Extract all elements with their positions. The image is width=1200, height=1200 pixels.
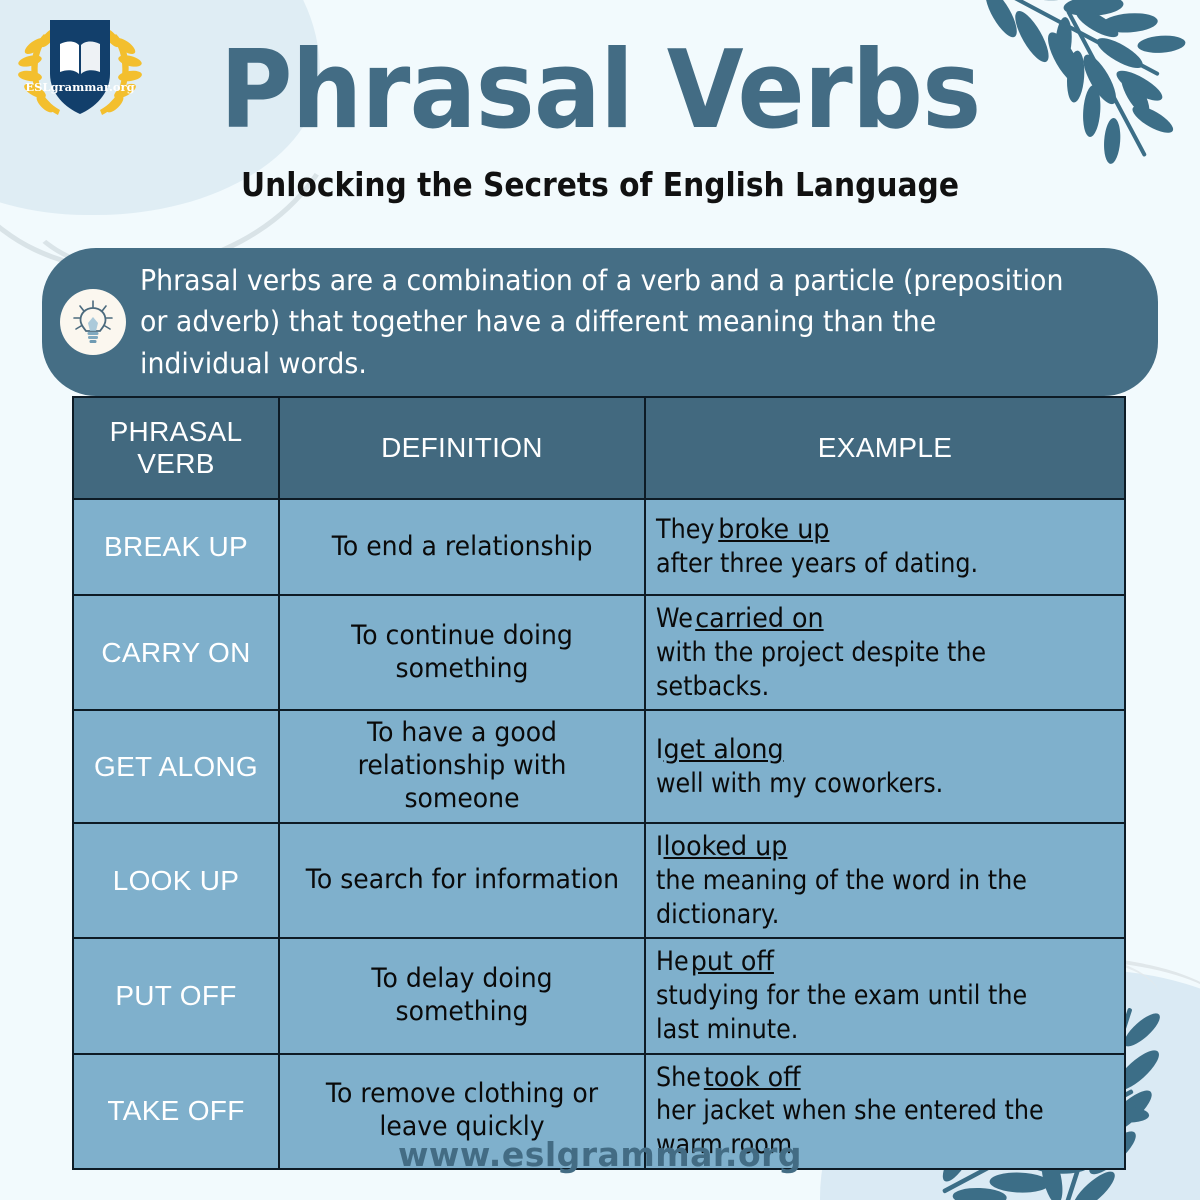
- cell-phrasal-verb: LOOK UP: [73, 823, 279, 938]
- cell-example: We carried on with the project despite t…: [645, 595, 1125, 710]
- cell-phrasal-verb: CARRY ON: [73, 595, 279, 710]
- example-text-before: She: [656, 1061, 701, 1095]
- example-phrasal-verb-highlight: get along: [663, 734, 783, 765]
- column-header-example: EXAMPLE: [645, 397, 1125, 499]
- definition-banner: Phrasal verbs are a combination of a ver…: [42, 248, 1158, 396]
- table-row: LOOK UPTo search for informationI looked…: [73, 823, 1125, 938]
- cell-phrasal-verb: GET ALONG: [73, 710, 279, 823]
- example-text-after: with the project despite the setbacks.: [656, 636, 1061, 704]
- footer-website[interactable]: www.eslgrammar.org: [0, 1135, 1200, 1174]
- cell-example: I get along well with my coworkers.: [645, 710, 1125, 823]
- column-header-line-1: PHRASAL: [84, 416, 268, 448]
- example-phrasal-verb-highlight: put off: [691, 946, 774, 977]
- table-body: BREAK UPTo end a relationshipThey broke …: [73, 499, 1125, 1169]
- lightbulb-icon: [71, 299, 115, 345]
- page-header: Phrasal Verbs Unlocking the Secrets of E…: [0, 40, 1200, 204]
- column-header-phrasal-verb: PHRASAL VERB: [73, 397, 279, 499]
- cell-definition: To delay doing something: [279, 938, 645, 1053]
- cell-phrasal-verb: BREAK UP: [73, 499, 279, 595]
- example-text-before: He: [656, 945, 689, 979]
- example-text-after: the meaning of the word in the dictionar…: [656, 864, 1061, 932]
- example-phrasal-verb-highlight: took off: [704, 1062, 801, 1093]
- cell-definition: To have a good relationship with someone: [279, 710, 645, 823]
- example-text-after: after three years of dating.: [656, 547, 978, 581]
- example-text-before: We: [656, 602, 693, 636]
- cell-example: They broke up after three years of datin…: [645, 499, 1125, 595]
- cell-phrasal-verb: PUT OFF: [73, 938, 279, 1053]
- cell-example: He put off studying for the exam until t…: [645, 938, 1125, 1053]
- lightbulb-badge: [60, 289, 126, 355]
- table-row: PUT OFFTo delay doing somethingHe put of…: [73, 938, 1125, 1053]
- example-text-before: I: [656, 733, 663, 767]
- page-subtitle: Unlocking the Secrets of English Languag…: [60, 165, 1140, 204]
- cell-definition: To search for information: [279, 823, 645, 938]
- table-row: CARRY ONTo continue doing somethingWe ca…: [73, 595, 1125, 710]
- table-row: BREAK UPTo end a relationshipThey broke …: [73, 499, 1125, 595]
- example-phrasal-verb-highlight: broke up: [718, 514, 829, 545]
- phrasal-verbs-table-wrapper: PHRASAL VERB DEFINITION EXAMPLE BREAK UP…: [72, 396, 1126, 1170]
- column-header-definition: DEFINITION: [279, 397, 645, 499]
- example-text-after: studying for the exam until the last min…: [656, 979, 1061, 1047]
- example-phrasal-verb-highlight: carried on: [695, 603, 823, 634]
- column-header-line-2: VERB: [84, 448, 268, 480]
- cell-definition: To end a relationship: [279, 499, 645, 595]
- table-header-row: PHRASAL VERB DEFINITION EXAMPLE: [73, 397, 1125, 499]
- cell-definition: To continue doing something: [279, 595, 645, 710]
- infographic-page: Eslgrammar.org: [0, 0, 1200, 1200]
- definition-banner-text: Phrasal verbs are a combination of a ver…: [140, 260, 1072, 384]
- table-header: PHRASAL VERB DEFINITION EXAMPLE: [73, 397, 1125, 499]
- example-text-before: They: [656, 513, 714, 547]
- example-text-after: well with my coworkers.: [656, 767, 943, 801]
- phrasal-verbs-table: PHRASAL VERB DEFINITION EXAMPLE BREAK UP…: [72, 396, 1126, 1170]
- example-text-before: I: [656, 830, 663, 864]
- table-row: GET ALONGTo have a good relationship wit…: [73, 710, 1125, 823]
- example-phrasal-verb-highlight: looked up: [663, 831, 787, 862]
- page-title: Phrasal Verbs: [48, 40, 1152, 143]
- cell-example: I looked up the meaning of the word in t…: [645, 823, 1125, 938]
